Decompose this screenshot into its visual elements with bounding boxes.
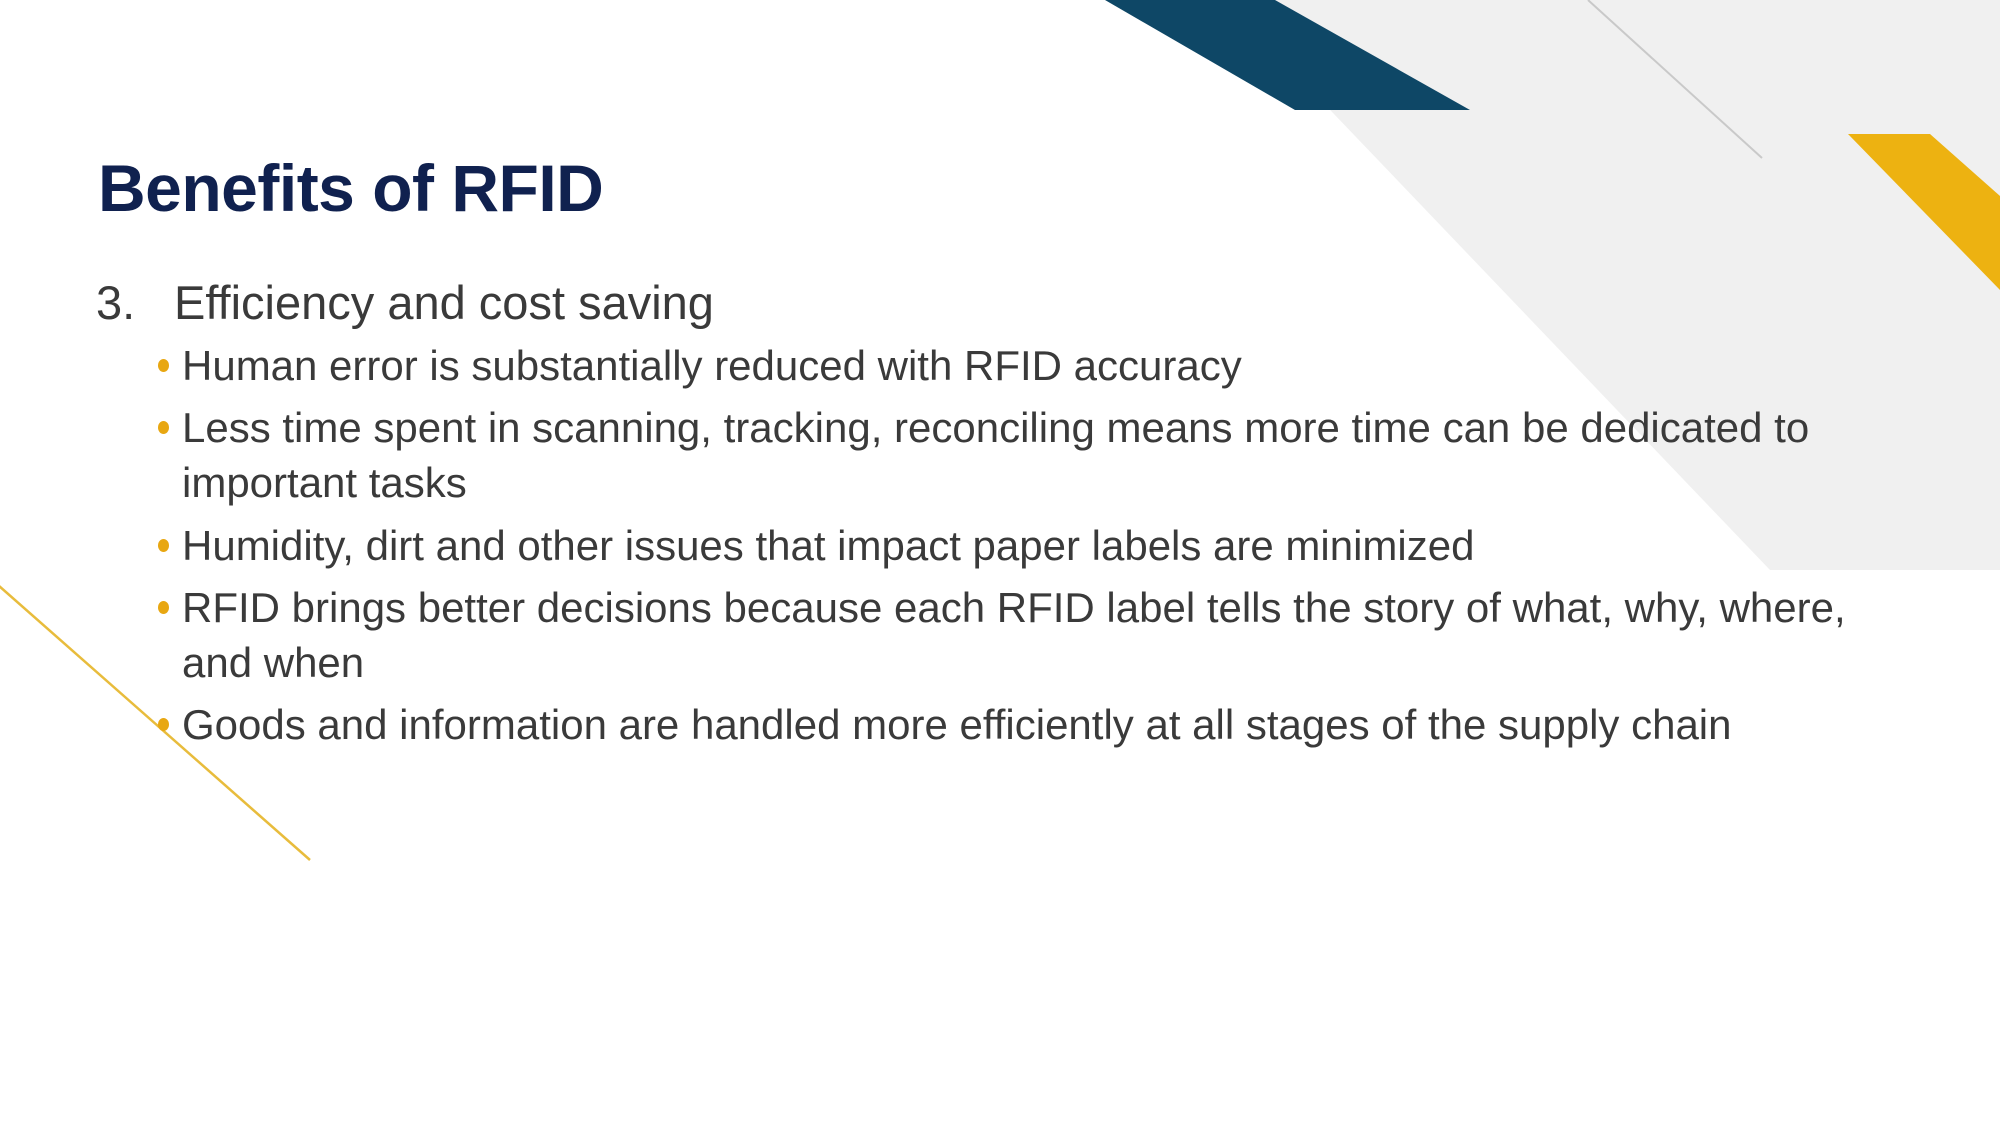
slide-body: 3. Efficiency and cost saving Human erro… (96, 275, 1856, 759)
list-item-label: Humidity, dirt and other issues that imp… (182, 518, 1856, 573)
page-title: Benefits of RFID (98, 154, 603, 223)
numbered-list-label: Efficiency and cost saving (174, 275, 1856, 330)
gray-hairline (1588, 0, 1762, 158)
list-item: Human error is substantially reduced wit… (158, 338, 1856, 393)
list-item: Goods and information are handled more e… (158, 697, 1856, 752)
list-item-label: Less time spent in scanning, tracking, r… (182, 400, 1856, 510)
list-item: Humidity, dirt and other issues that imp… (158, 518, 1856, 573)
navy-diagonal-band (1105, 0, 1470, 110)
list-item-label: Goods and information are handled more e… (182, 697, 1856, 752)
list-item-label: Human error is substantially reduced wit… (182, 338, 1856, 393)
numbered-list-marker: 3. (96, 275, 174, 330)
bullet-list: Human error is substantially reduced wit… (96, 338, 1856, 751)
slide-canvas: Benefits of RFID 3. Efficiency and cost … (0, 0, 2000, 1125)
gold-diagonal-wedge (1848, 134, 2000, 290)
list-item: Less time spent in scanning, tracking, r… (158, 400, 1856, 510)
list-item-label: RFID brings better decisions because eac… (182, 580, 1856, 690)
list-item: RFID brings better decisions because eac… (158, 580, 1856, 690)
numbered-list-item: 3. Efficiency and cost saving (96, 275, 1856, 330)
